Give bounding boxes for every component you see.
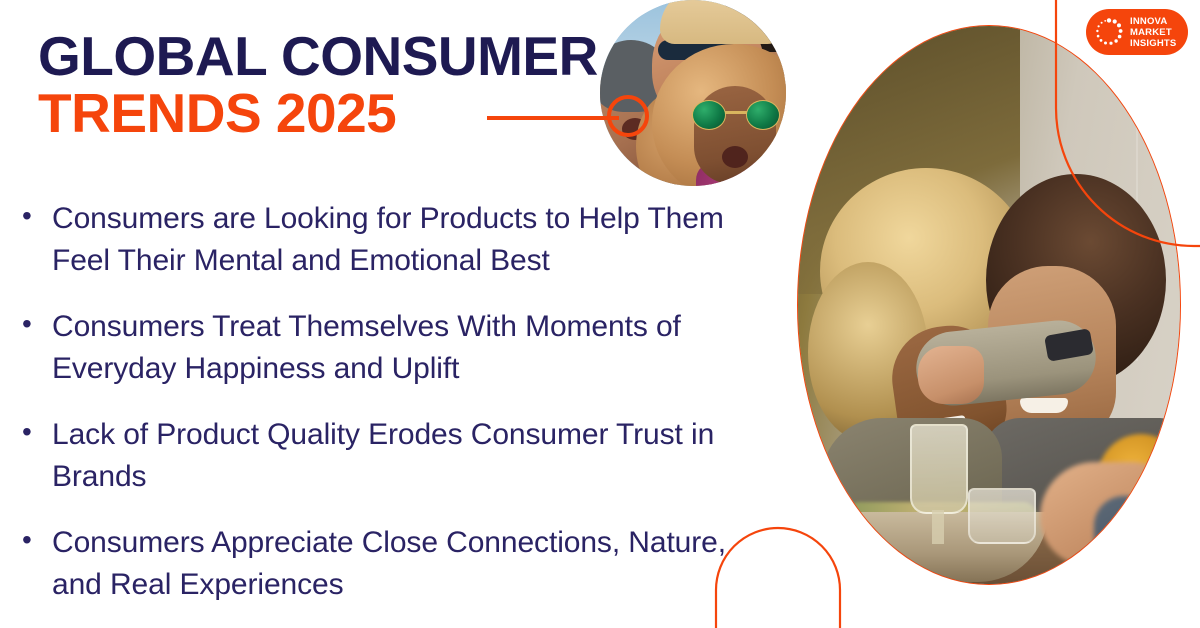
photo-center-lips: [722, 146, 748, 168]
list-item-label: Lack of Product Quality Erodes Consumer …: [52, 414, 778, 498]
bullet-marker-icon: •: [18, 306, 52, 342]
title-line-1: GLOBAL CONSUMER: [38, 30, 598, 84]
logo-line-3: INSIGHTS: [1130, 38, 1176, 49]
logo-line-2: MARKET: [1130, 27, 1176, 38]
bullet-marker-icon: •: [18, 414, 52, 450]
list-item-label: Consumers Appreciate Close Connections, …: [52, 522, 778, 606]
list-item: • Consumers are Looking for Products to …: [18, 198, 778, 282]
photo-hand: [918, 346, 984, 404]
bullet-marker-icon: •: [18, 522, 52, 558]
list-item: • Consumers Appreciate Close Connections…: [18, 522, 778, 606]
list-item-label: Consumers are Looking for Products to He…: [52, 198, 778, 282]
secondary-photo-friends-group: [600, 0, 786, 186]
connector-line: [487, 116, 619, 120]
list-item: • Lack of Product Quality Erodes Consume…: [18, 414, 778, 498]
sunglasses-bridge: [725, 111, 747, 114]
photo-green-sunglasses-icon: [692, 100, 780, 130]
trend-bullet-list: • Consumers are Looking for Products to …: [18, 198, 778, 628]
list-item: • Consumers Treat Themselves With Moment…: [18, 306, 778, 390]
photo-wine-glass-stem: [932, 510, 944, 544]
photo-foreground-sleeve: [1094, 496, 1181, 576]
logo-wordmark: INNOVA MARKET INSIGHTS: [1130, 16, 1176, 49]
logo-dot-ring-icon: [1094, 17, 1124, 47]
page-title: GLOBAL CONSUMER TRENDS 2025: [38, 30, 598, 141]
title-line-2: TRENDS 2025: [38, 87, 598, 141]
logo-line-1: INNOVA: [1130, 16, 1176, 27]
bullet-marker-icon: •: [18, 198, 52, 234]
photo-person-top-hat: [660, 0, 782, 44]
slide-canvas: GLOBAL CONSUMER TRENDS 2025 • Consumers …: [0, 0, 1200, 628]
sunglasses-lens-left: [692, 100, 726, 130]
hero-photo-hugging-women: [797, 25, 1181, 585]
photo-tumbler-glass: [968, 488, 1036, 544]
connector-ring-icon: [607, 95, 649, 137]
sunglasses-lens-right: [746, 100, 780, 130]
list-item-label: Consumers Treat Themselves With Moments …: [52, 306, 778, 390]
innova-market-insights-logo[interactable]: INNOVA MARKET INSIGHTS: [1086, 9, 1188, 55]
photo-smile-right: [1020, 398, 1068, 413]
photo-wine-glass: [910, 424, 968, 514]
